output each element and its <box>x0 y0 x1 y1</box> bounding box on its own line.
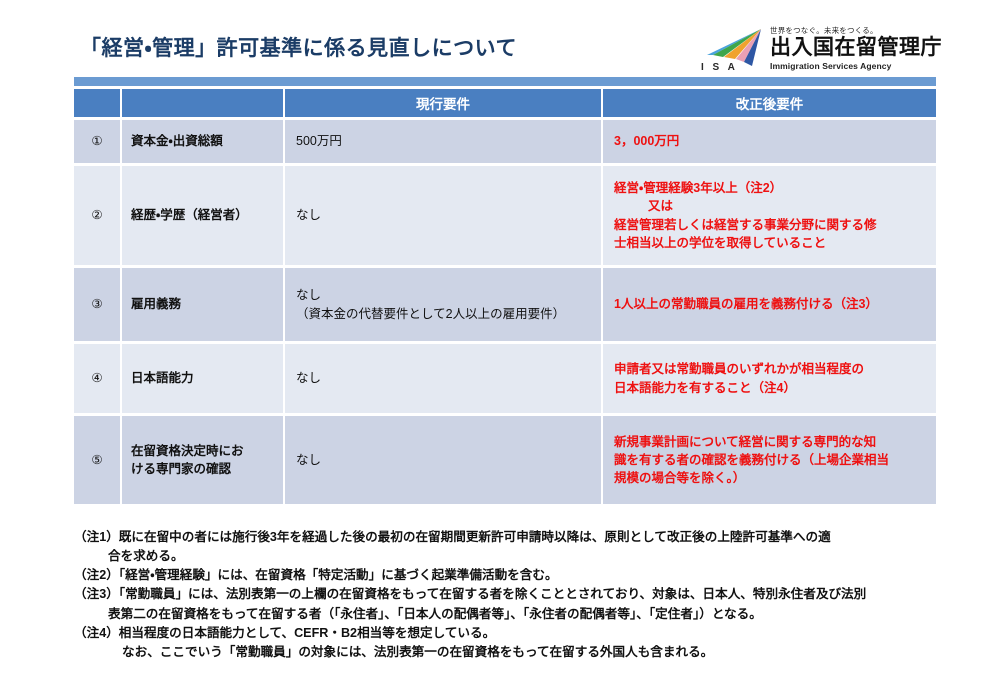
page-title: 「経営・管理」許可基準に係る見直しについて <box>80 32 517 62</box>
table-row: ⑤在留資格決定時における専門家の確認なし新規事業計画について経営に関する専門的な… <box>74 416 936 504</box>
current-requirement-cell: なし <box>285 416 603 504</box>
revised-requirement-cell: 1人以上の常勤職員の雇用を義務付ける（注3） <box>603 268 936 344</box>
row-number: ① <box>74 120 122 166</box>
column-header-item <box>122 89 285 120</box>
row-item-label: 資本金・出資総額 <box>122 120 285 166</box>
table-header-row: 現行要件 改正後要件 <box>74 89 936 120</box>
revised-requirement-cell: 経営・管理経験3年以上（注2）又は経営管理若しくは経営する事業分野に関する修士相… <box>603 166 936 268</box>
row-number: ④ <box>74 344 122 416</box>
row-number: ③ <box>74 268 122 344</box>
table-row: ③雇用義務なし（資本金の代替要件として2人以上の雇用要件）1人以上の常勤職員の雇… <box>74 268 936 344</box>
footnote-line: 合を求める。 <box>74 547 954 566</box>
table-row: ②経歴・学歴（経営者）なし経営・管理経験3年以上（注2）又は経営管理若しくは経営… <box>74 166 936 268</box>
row-item-label: 在留資格決定時における専門家の確認 <box>122 416 285 504</box>
row-item-label: 雇用義務 <box>122 268 285 344</box>
agency-logo: I S A 世界をつなぐ。未来をつくる。 出入国在留管理庁 Immigratio… <box>697 25 942 72</box>
row-number: ② <box>74 166 122 268</box>
title-divider-bar <box>74 77 936 86</box>
requirements-table-wrapper: 現行要件 改正後要件 ①資本金・出資総額500万円3，000万円②経歴・学歴（経… <box>74 89 936 504</box>
footnote: （注4）相当程度の日本語能力として、CEFR・B2相当等を想定している。なお、こ… <box>74 624 954 662</box>
paper-plane-icon: I S A <box>697 28 763 72</box>
footnote-line: （注2）「経営・管理経験」には、在留資格「特定活動」に基づく起業準備活動を含む。 <box>74 566 954 585</box>
column-header-number <box>74 89 122 120</box>
footnote-line: （注3）「常勤職員」には、法別表第一の上欄の在留資格をもって在留する者を除くこと… <box>74 585 954 604</box>
current-requirement-cell: 500万円 <box>285 120 603 166</box>
current-requirement-cell: なし <box>285 344 603 416</box>
requirements-table: 現行要件 改正後要件 ①資本金・出資総額500万円3，000万円②経歴・学歴（経… <box>74 89 936 504</box>
footnote-line: （注4）相当程度の日本語能力として、CEFR・B2相当等を想定している。 <box>74 624 954 643</box>
agency-logo-text: 世界をつなぐ。未来をつくる。 出入国在留管理庁 Immigration Serv… <box>770 25 942 72</box>
footnote-line: 表第二の在留資格をもって在留する者（「永住者」、「日本人の配偶者等」、「永住者の… <box>74 605 954 624</box>
footnote-line: （注1）既に在留中の者には施行後3年を経過した後の最初の在留期間更新許可申請時以… <box>74 528 954 547</box>
footnote: （注2）「経営・管理経験」には、在留資格「特定活動」に基づく起業準備活動を含む。 <box>74 566 954 585</box>
document-page: 「経営・管理」許可基準に係る見直しについて I S A 世界をつなぐ。未来をつく… <box>0 0 1008 700</box>
row-number: ⑤ <box>74 416 122 504</box>
footnote: （注1）既に在留中の者には施行後3年を経過した後の最初の在留期間更新許可申請時以… <box>74 528 954 566</box>
row-item-label: 日本語能力 <box>122 344 285 416</box>
column-header-current: 現行要件 <box>285 89 603 120</box>
footnote-line: なお、ここでいう「常勤職員」の対象には、法別表第一の在留資格をもって在留する外国… <box>74 643 954 662</box>
agency-name-en: Immigration Services Agency <box>770 61 942 71</box>
document-header: 「経営・管理」許可基準に係る見直しについて I S A 世界をつなぐ。未来をつく… <box>0 0 1008 80</box>
row-item-label: 経歴・学歴（経営者） <box>122 166 285 268</box>
agency-tagline: 世界をつなぐ。未来をつくる。 <box>770 25 942 36</box>
requirements-table-body: ①資本金・出資総額500万円3，000万円②経歴・学歴（経営者）なし経営・管理経… <box>74 120 936 504</box>
revised-requirement-cell: 新規事業計画について経営に関する専門的な知識を有する者の確認を義務付ける（上場企… <box>603 416 936 504</box>
footnotes: （注1）既に在留中の者には施行後3年を経過した後の最初の在留期間更新許可申請時以… <box>74 528 954 662</box>
table-row: ④日本語能力なし申請者又は常勤職員のいずれかが相当程度の日本語能力を有すること（… <box>74 344 936 416</box>
footnote: （注3）「常勤職員」には、法別表第一の上欄の在留資格をもって在留する者を除くこと… <box>74 585 954 623</box>
column-header-revised: 改正後要件 <box>603 89 936 120</box>
table-row: ①資本金・出資総額500万円3，000万円 <box>74 120 936 166</box>
current-requirement-cell: なし（資本金の代替要件として2人以上の雇用要件） <box>285 268 603 344</box>
current-requirement-cell: なし <box>285 166 603 268</box>
revised-requirement-cell: 申請者又は常勤職員のいずれかが相当程度の日本語能力を有すること（注4） <box>603 344 936 416</box>
agency-name-ja: 出入国在留管理庁 <box>770 37 942 59</box>
revised-requirement-cell: 3，000万円 <box>603 120 936 166</box>
isa-abbrev-label: I S A <box>701 62 738 73</box>
